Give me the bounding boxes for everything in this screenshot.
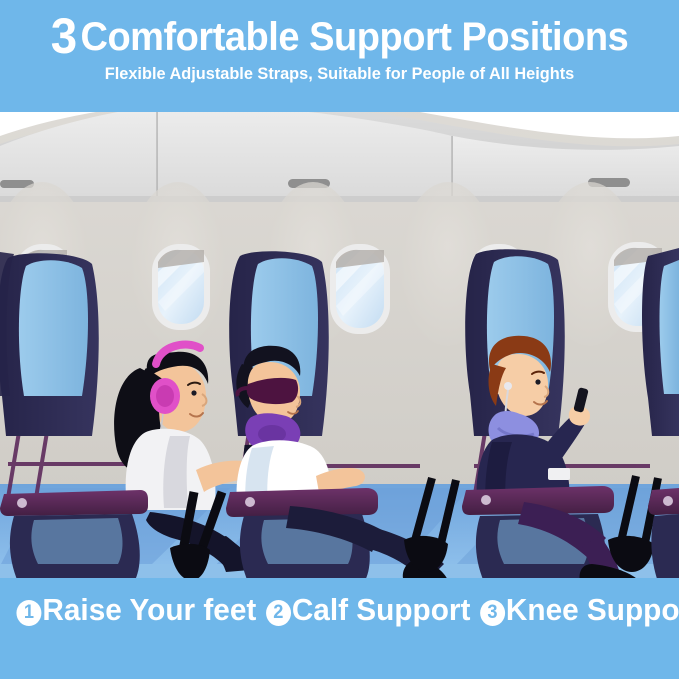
feature-badge-2: 2 [266,600,291,626]
seat-1-front-cushion [31,518,122,564]
header-banner: 3Comfortable Support Positions Flexible … [0,0,679,112]
page-subtitle: Flexible Adjustable Straps, Suitable for… [14,64,666,84]
p1-eye [191,390,196,395]
p2-armrest-knob [245,497,255,507]
footer-banner: 1Raise Your feet2Calf Support3Knee Suppo… [0,578,679,679]
feature-label-1: Raise Your feet [42,592,256,627]
seat-1-cushion [19,260,88,396]
feature-label-2: Calf Support [292,592,471,627]
page-title: 3Comfortable Support Positions [17,14,662,59]
p3-armrest-knob [481,495,491,505]
seat-4-front [651,514,679,582]
feature-badge-1: 1 [16,600,41,626]
p3-eye [535,379,540,384]
p1-armrest-knob [17,498,27,508]
seat-4-cushion [660,260,679,394]
p3-earbud [504,382,512,390]
p3-tray-cup [548,468,570,480]
product-infographic: 3Comfortable Support Positions Flexible … [0,0,679,679]
feature-caption-row: 1Raise Your feet2Calf Support3Knee Suppo… [14,592,666,628]
feature-badge-3: 3 [480,600,505,626]
feature-label-3: Knee Support [506,592,679,627]
title-count: 3 [51,8,77,64]
airplane-cabin-illustration [0,96,679,582]
cabin-window-3 [330,244,390,334]
cabin-window-2 [152,244,210,330]
title-text: Comfortable Support Positions [80,15,628,59]
